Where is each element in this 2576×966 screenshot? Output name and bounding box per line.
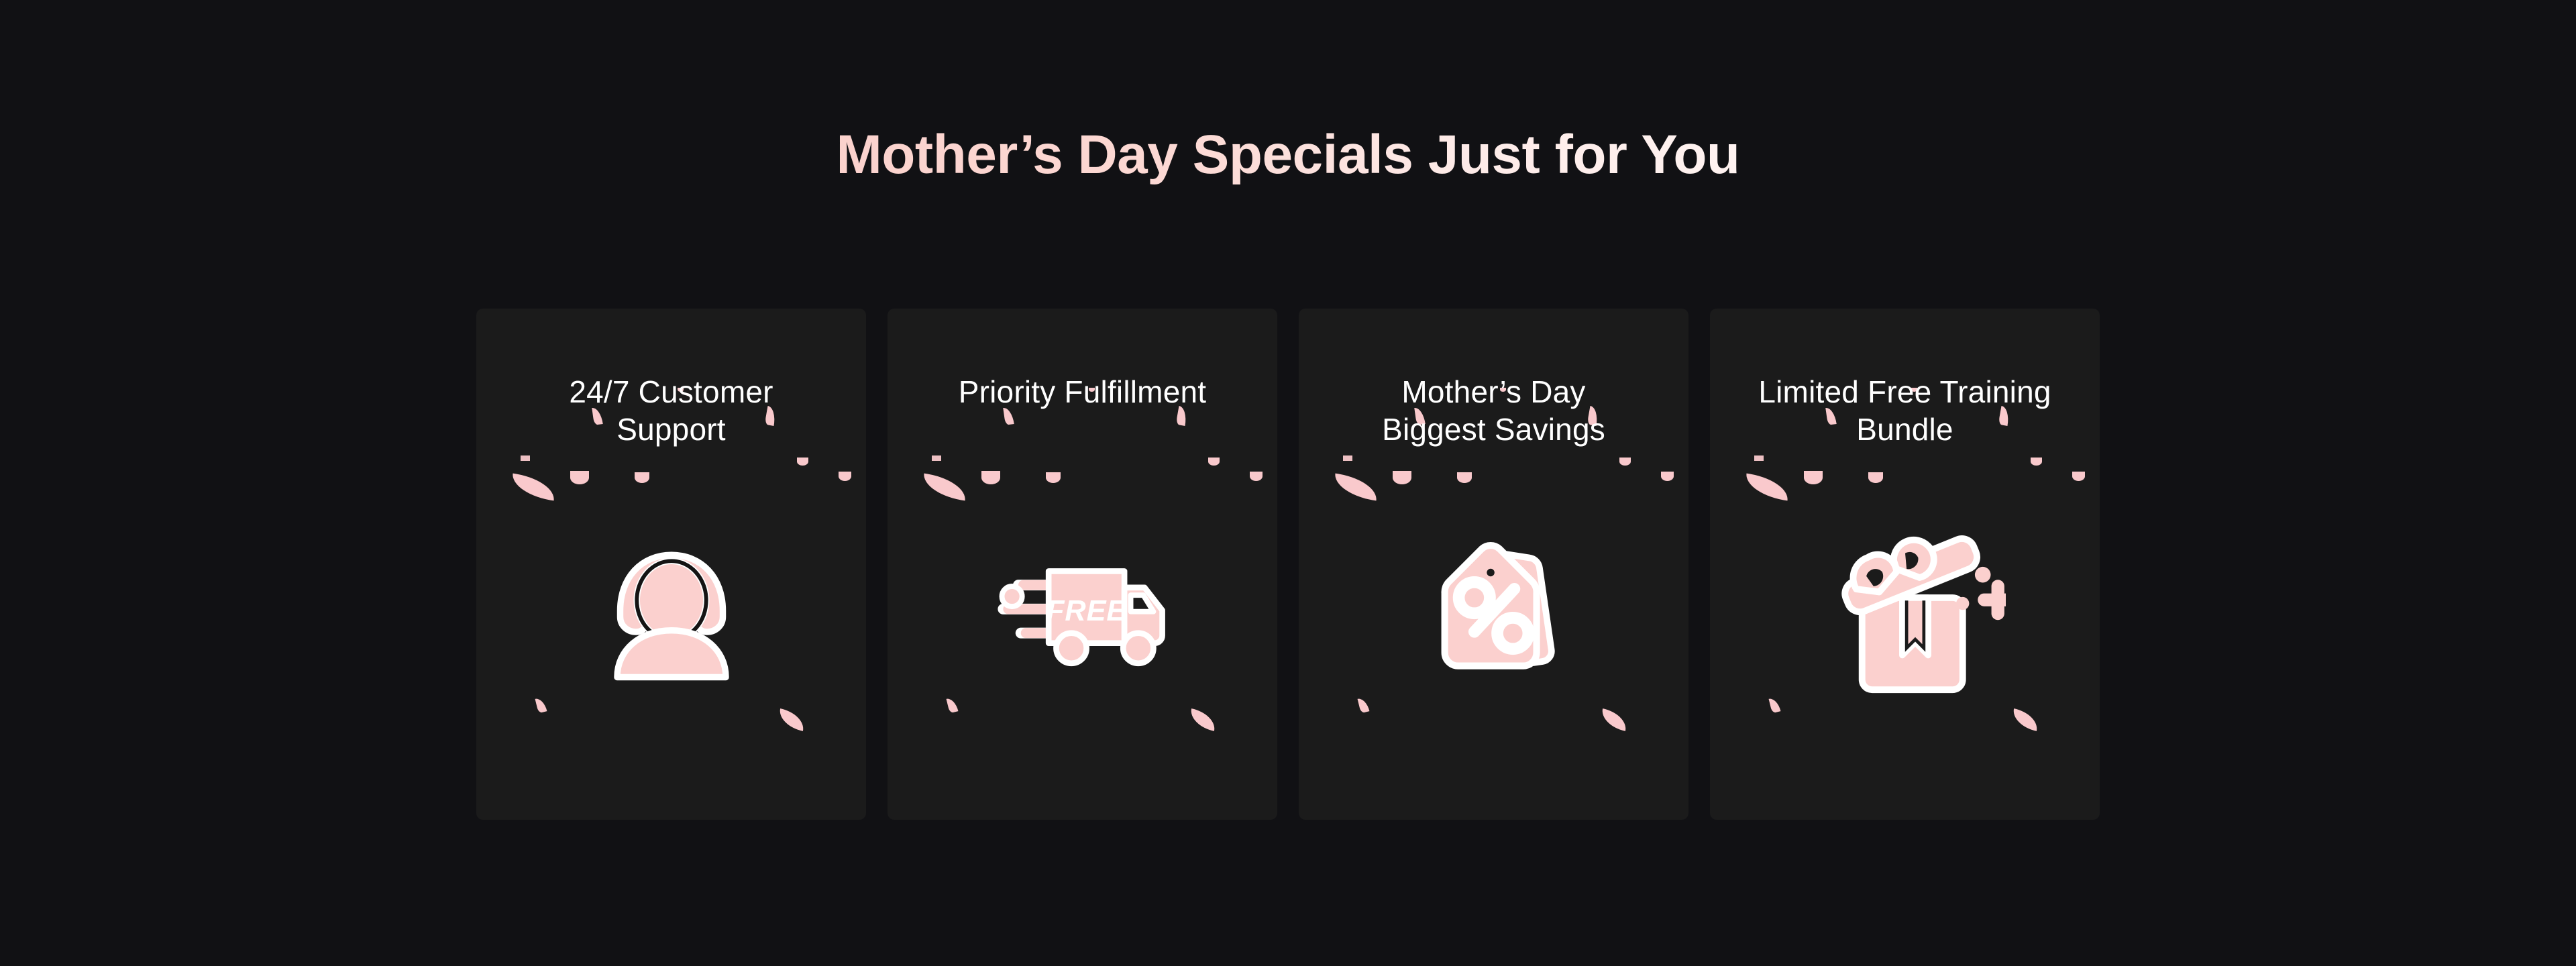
feature-card-savings[interactable]: Mother’s Day Biggest Savings xyxy=(1299,309,1688,820)
sparkle-dot-icon xyxy=(1974,567,1990,583)
feature-card-support[interactable]: 24/7 Customer Support xyxy=(476,309,866,820)
petal-icon xyxy=(521,455,530,461)
petal-icon xyxy=(1619,458,1631,466)
card-title: Priority Fulfillment xyxy=(888,373,1277,411)
card-icon-stage xyxy=(1299,474,1688,742)
card-icon-stage xyxy=(1710,474,2100,742)
petal-icon xyxy=(797,458,808,466)
truck-free-label: FREE xyxy=(1046,595,1126,627)
page-title: Mother’s Day Specials Just for You xyxy=(836,125,1739,185)
petal-icon xyxy=(1343,455,1352,461)
discount-price-tags-icon xyxy=(1405,519,1582,697)
promo-section: Mother’s Day Specials Just for You 24/7 … xyxy=(0,0,2576,966)
petal-icon xyxy=(2031,458,2042,466)
sparkle-dot-icon xyxy=(1956,597,1969,610)
card-icon-stage: FREE xyxy=(888,474,1277,742)
feature-card-fulfillment[interactable]: Priority Fulfillment xyxy=(888,309,1277,820)
gift-box-icon xyxy=(1805,514,2006,702)
sparkle-plus-icon xyxy=(1978,580,2006,620)
card-title: Limited Free Training Bundle xyxy=(1710,373,2100,448)
card-icon-stage xyxy=(476,474,866,742)
headset-support-agent-icon xyxy=(581,517,762,698)
free-delivery-truck-icon: FREE xyxy=(975,531,1190,685)
petal-icon xyxy=(932,455,941,461)
feature-card-row: 24/7 Customer Support xyxy=(476,309,2100,820)
petal-icon xyxy=(1208,458,1220,466)
page-title-wrap: Mother’s Day Specials Just for You xyxy=(0,125,2576,185)
feature-card-bundle[interactable]: Limited Free Training Bundle xyxy=(1710,309,2100,820)
petal-icon xyxy=(1754,455,1764,461)
card-title: Mother’s Day Biggest Savings xyxy=(1299,373,1688,448)
card-title: 24/7 Customer Support xyxy=(476,373,866,448)
